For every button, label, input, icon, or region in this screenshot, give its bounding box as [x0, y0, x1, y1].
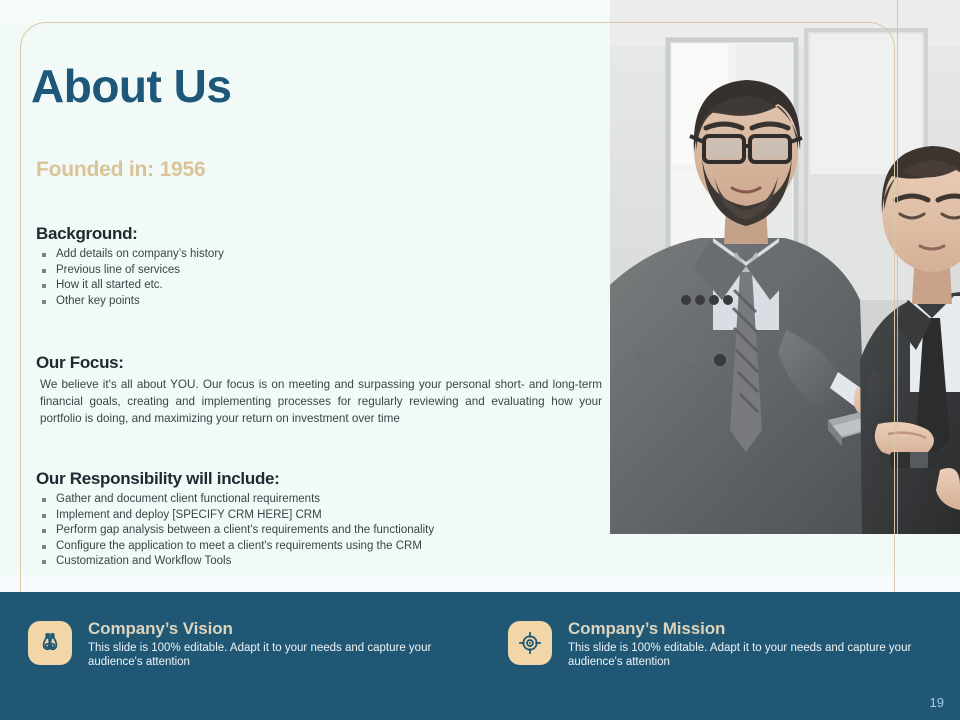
- founded-label: Founded in: 1956: [36, 158, 597, 182]
- responsibility-bullet-list: Gather and document client functional re…: [31, 492, 597, 570]
- team-photo: [610, 0, 960, 534]
- company-vision-block: Company’s Vision This slide is 100% edit…: [0, 592, 480, 720]
- mission-title: Company’s Mission: [568, 619, 916, 639]
- list-item: Configure the application to meet a clie…: [40, 539, 597, 555]
- list-item: Customization and Workflow Tools: [40, 554, 597, 570]
- binoculars-icon: [28, 621, 72, 665]
- list-item: Perform gap analysis between a client's …: [40, 523, 597, 539]
- list-item: Gather and document client functional re…: [40, 492, 597, 508]
- page-number: 19: [930, 695, 944, 710]
- top-strip: [0, 0, 610, 24]
- section-our-responsibility: Our Responsibility will include: Gather …: [31, 469, 597, 570]
- vision-body: This slide is 100% editable. Adapt it to…: [88, 641, 436, 669]
- slide-about-us: About Us Founded in: 1956 Background: Ad…: [0, 0, 960, 720]
- section-heading-our-responsibility: Our Responsibility will include:: [36, 469, 597, 489]
- section-our-focus: Our Focus: We believe it's all about YOU…: [31, 353, 597, 427]
- vision-title: Company’s Vision: [88, 619, 436, 639]
- section-heading-our-focus: Our Focus:: [36, 353, 597, 373]
- mission-body: This slide is 100% editable. Adapt it to…: [568, 641, 916, 669]
- lower-gap-strip: [0, 575, 960, 592]
- page-title: About Us: [31, 60, 597, 112]
- list-item: How it all started etc.: [40, 278, 597, 294]
- list-item: Other key points: [40, 294, 597, 310]
- bottom-banner: Company’s Vision This slide is 100% edit…: [0, 592, 960, 720]
- company-mission-block: Company’s Mission This slide is 100% edi…: [480, 592, 960, 720]
- section-heading-background: Background:: [36, 224, 597, 244]
- background-bullet-list: Add details on company’s history Previou…: [31, 247, 597, 309]
- target-icon: [508, 621, 552, 665]
- list-item: Implement and deploy [SPECIFY CRM HERE] …: [40, 508, 597, 524]
- list-item: Previous line of services: [40, 263, 597, 279]
- section-background: Background: Add details on company’s his…: [31, 224, 597, 309]
- list-item: Add details on company’s history: [40, 247, 597, 263]
- slide-content: About Us Founded in: 1956 Background: Ad…: [31, 60, 597, 570]
- team-photo-illustration: [610, 0, 960, 534]
- our-focus-paragraph: We believe it's all about YOU. Our focus…: [40, 376, 602, 427]
